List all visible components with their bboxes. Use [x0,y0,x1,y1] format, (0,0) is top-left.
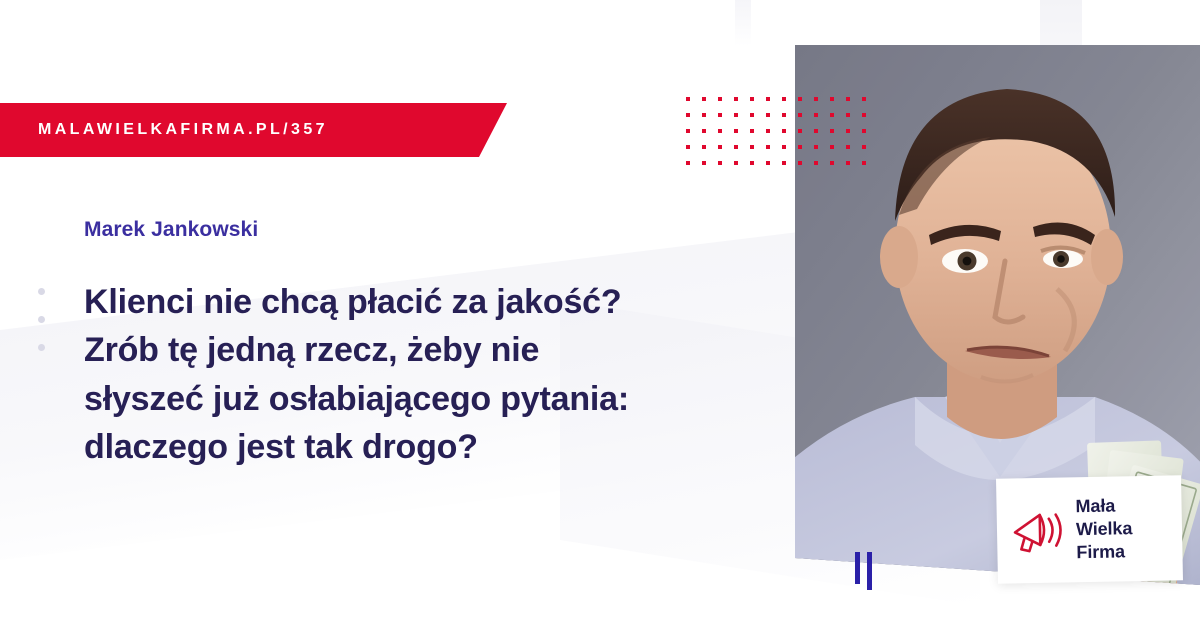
background-top-stripe [735,0,751,46]
brand-word-1: Mała [1075,494,1132,518]
podcast-cover-card: 20 MALAWIELKAFIRMA.PL/357 Marek Jankowsk… [0,0,1200,630]
pause-bars-icon [855,552,872,590]
episode-title-line-2: Zrób tę jedną rzecz, żeby nie [84,326,784,374]
gray-dot-column-icon [38,288,45,372]
brand-logo-card: Mała Wielka Firma [996,475,1183,584]
episode-title-line-1: Klienci nie chcą płacić za jakość? [84,278,784,326]
episode-url-banner: MALAWIELKAFIRMA.PL/357 [0,103,507,157]
author-name: Marek Jankowski [84,218,258,242]
red-dot-grid-icon [686,88,878,168]
megaphone-icon [1011,504,1068,557]
episode-title-line-3: słyszeć już osłabiającego pytania: [84,375,784,423]
brand-logo-text: Mała Wielka Firma [1075,494,1133,564]
brand-word-3: Firma [1076,540,1133,564]
episode-title-line-4: dlaczego jest tak drogo? [84,423,784,471]
episode-url-label: MALAWIELKAFIRMA.PL/357 [0,121,328,139]
episode-title: Klienci nie chcą płacić za jakość? Zrób … [84,278,784,471]
brand-word-2: Wielka [1076,517,1133,541]
